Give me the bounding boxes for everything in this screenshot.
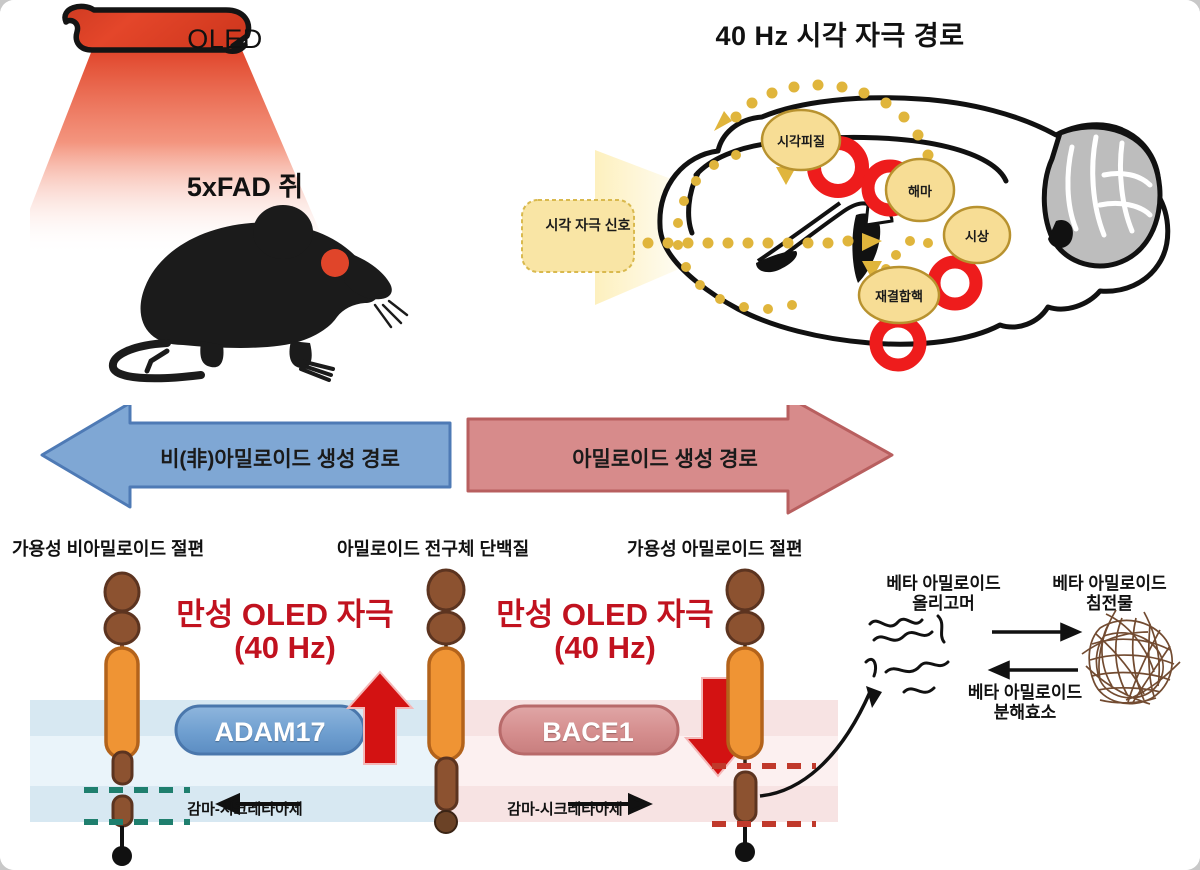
caption-app: 아밀로이드 전구체 단백질 bbox=[337, 535, 529, 561]
caption-soluble-non-amyloid: 가용성 비아밀로이드 절편 bbox=[12, 535, 204, 561]
non-amyloidogenic-label: 비(非)아밀로이드 생성 경로 bbox=[120, 443, 440, 473]
caption-soluble-amyloid: 가용성 아밀로이드 절편 bbox=[627, 535, 803, 561]
gamma-secretase-label-left: 감마-시크레타아제 bbox=[140, 798, 350, 819]
brain-panel-title: 40 Hz 시각 자극 경로 bbox=[600, 14, 1080, 53]
brain-nucleus-visual-cortex: 시각피질 bbox=[762, 130, 840, 150]
stim-right-line1: 만성 OLED 자극 bbox=[496, 597, 713, 632]
gamma-secretase-label-right: 감마-시크레타아제 bbox=[460, 798, 670, 819]
oligomer-line1: 베타 아밀로이드 bbox=[886, 574, 1000, 593]
abeta-plaque-tangle bbox=[1082, 610, 1180, 704]
plaque-line1: 베타 아밀로이드 bbox=[1052, 574, 1166, 593]
visual-signal-label: 시각 자극 신호 bbox=[528, 205, 648, 245]
figure-canvas: OLED 5xFAD 쥐 40 Hz 시각 자극 경로 bbox=[0, 0, 1200, 870]
mouse-eye-led bbox=[321, 249, 349, 277]
oled-device: OLED bbox=[60, 4, 390, 74]
bace1-label: BACE1 bbox=[508, 709, 668, 755]
aggregation-arrow bbox=[992, 625, 1078, 639]
figure-frame: OLED 5xFAD 쥐 40 Hz 시각 자극 경로 bbox=[0, 0, 1200, 870]
degradation-arrow bbox=[992, 663, 1078, 677]
abeta-aggregation-diagram bbox=[860, 600, 1190, 740]
stim-left-line1: 만성 OLED 자극 bbox=[176, 597, 393, 632]
abeta-oligomer-squiggles bbox=[866, 616, 948, 692]
oled-label: OLED bbox=[60, 4, 390, 74]
brain-nucleus-hippocampus: 해마 bbox=[881, 180, 959, 200]
stim-right-line2: (40 Hz) bbox=[554, 630, 656, 665]
chronic-oled-stimulus-right: 만성 OLED 자극 (40 Hz) bbox=[470, 598, 740, 665]
brain-nucleus-thalamus: 시상 bbox=[938, 225, 1016, 245]
amyloidogenic-label: 아밀로이드 생성 경로 bbox=[505, 443, 825, 473]
mouse-silhouette bbox=[105, 165, 435, 385]
adam17-label: ADAM17 bbox=[185, 709, 355, 755]
stim-left-line2: (40 Hz) bbox=[234, 630, 336, 665]
chronic-oled-stimulus-left: 만성 OLED 자극 (40 Hz) bbox=[150, 598, 420, 665]
brain-nucleus-reuniens: 재결합핵 bbox=[860, 285, 938, 305]
